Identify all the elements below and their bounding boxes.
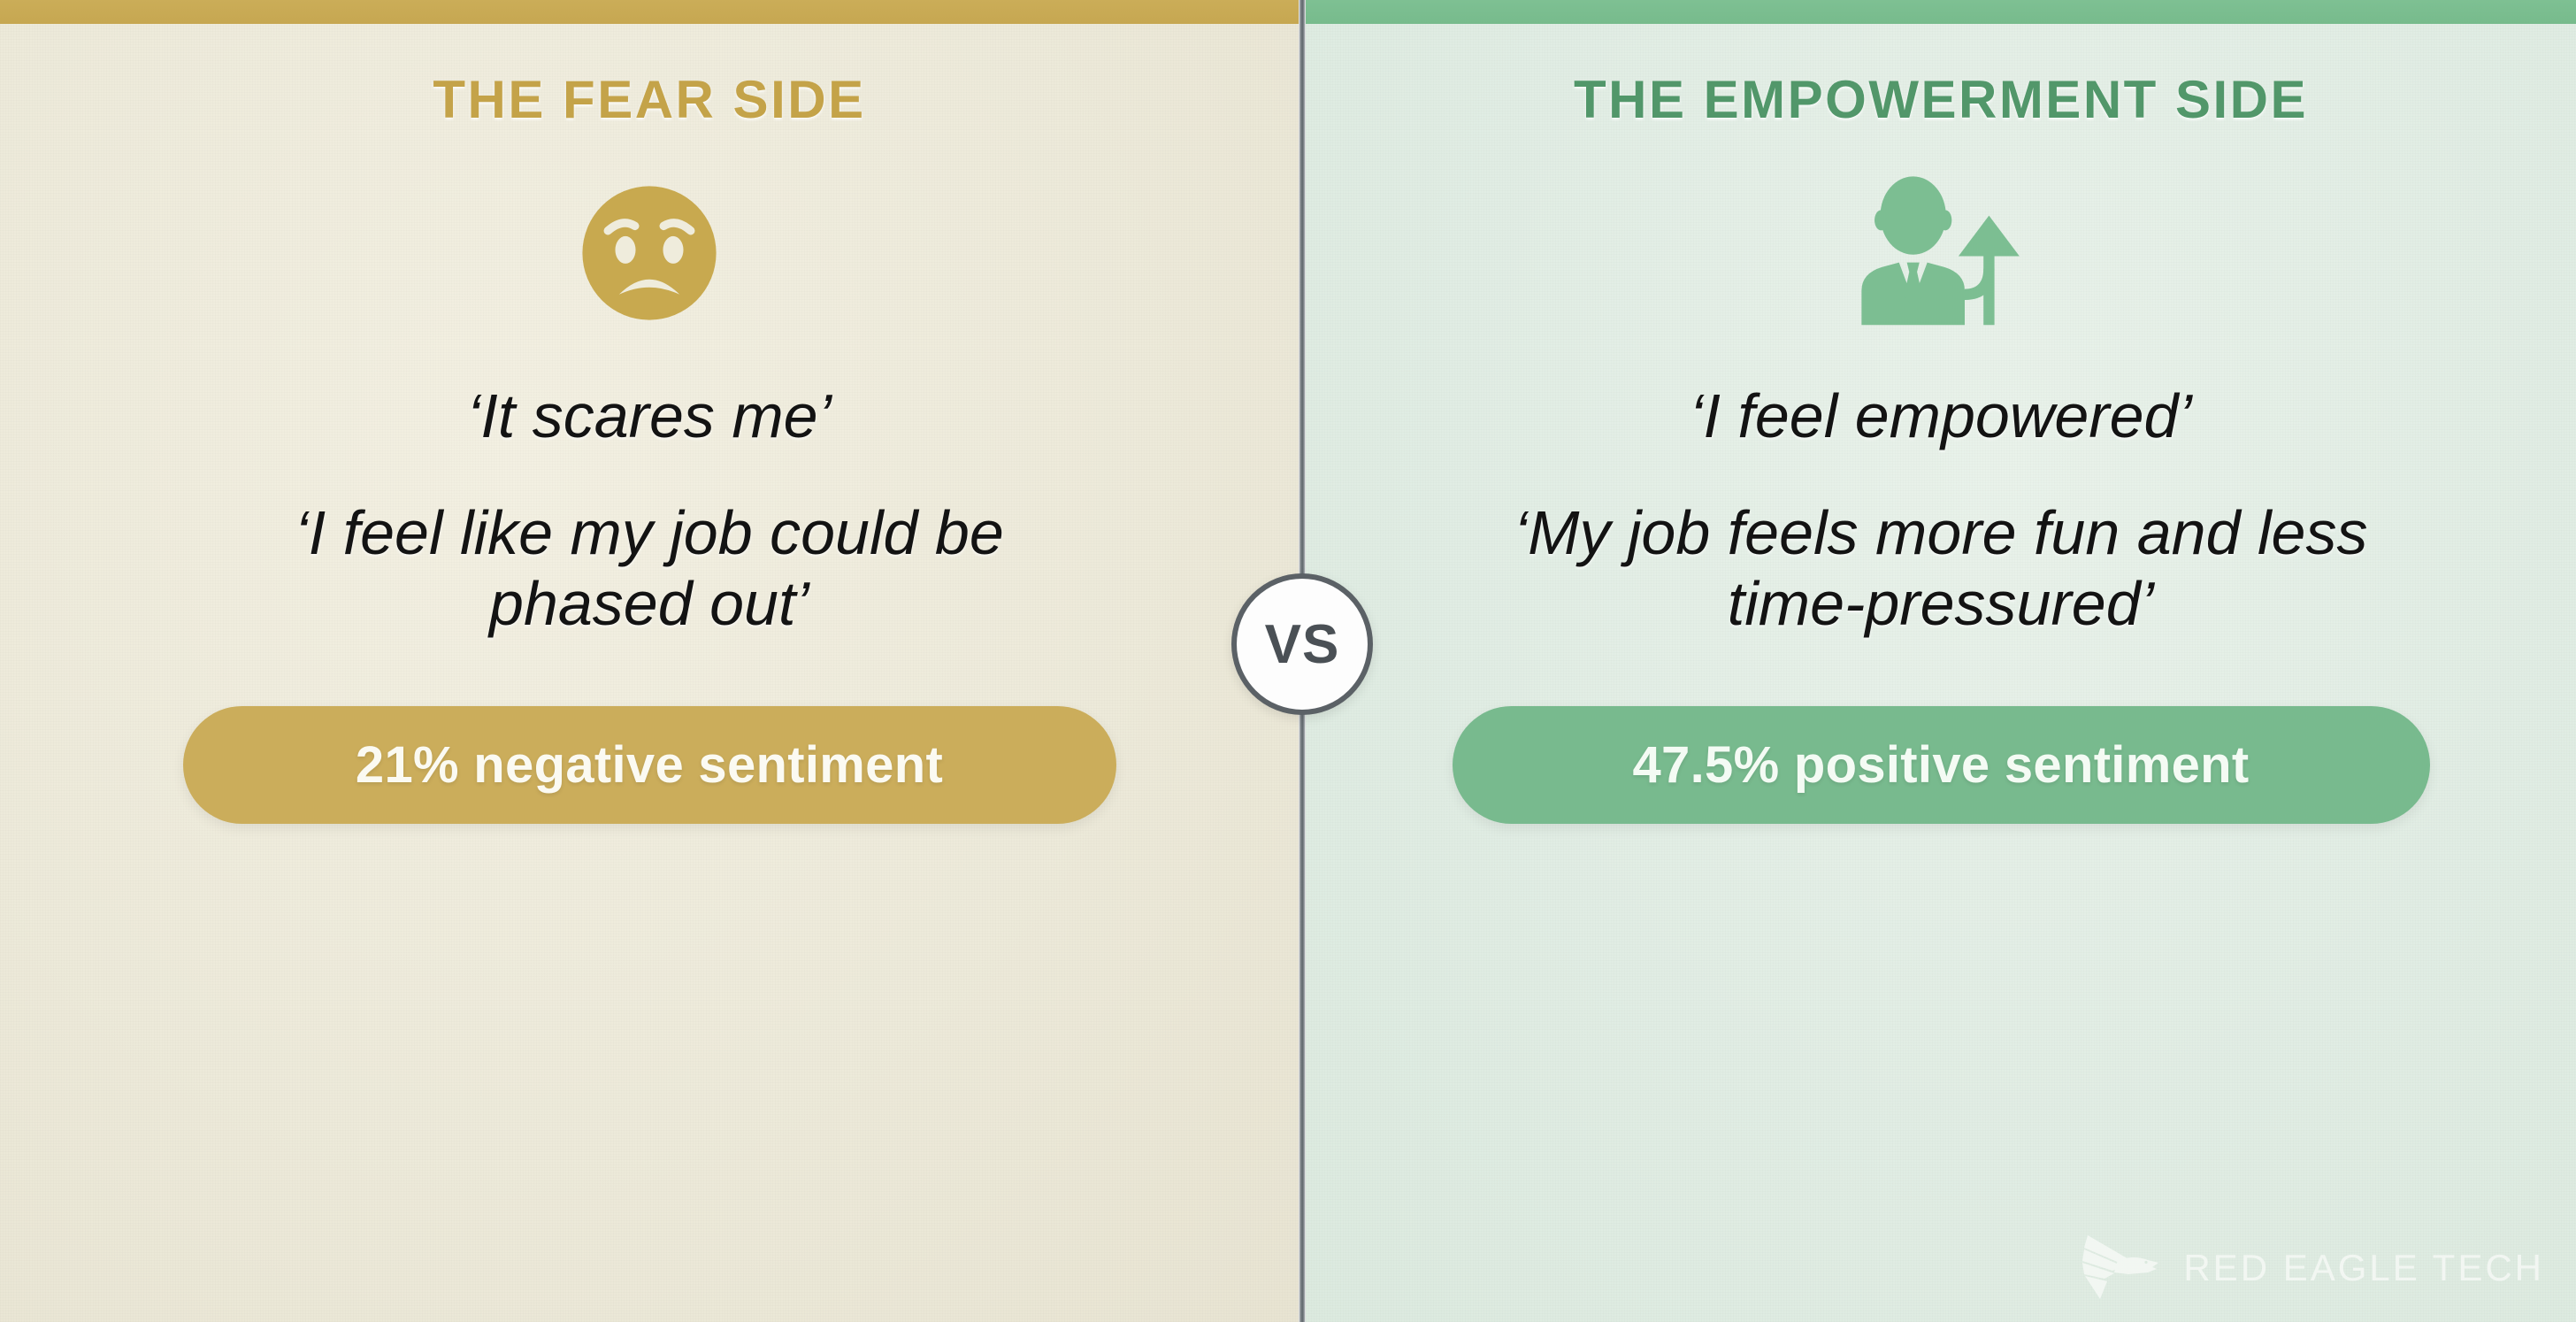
brand-name: RED EAGLE TECH bbox=[2183, 1247, 2544, 1289]
businessperson-growth-icon-slot bbox=[1851, 169, 2032, 337]
fear-side-heading: THE FEAR SIDE bbox=[433, 73, 865, 127]
fear-sentiment-badge: 21% negative sentiment bbox=[183, 706, 1116, 824]
empowerment-side-heading: THE EMPOWERMENT SIDE bbox=[1574, 73, 2308, 127]
fear-long-quote: ‘I feel like my job could be phased out’ bbox=[198, 498, 1100, 640]
fear-short-quote: ‘It scares me’ bbox=[467, 381, 832, 452]
worried-face-icon bbox=[570, 173, 729, 333]
worried-face-icon-slot bbox=[570, 169, 729, 337]
vs-badge: VS bbox=[1231, 573, 1373, 715]
infographic-canvas: THE FEAR SIDE ‘It scares me’ ‘I feel lik… bbox=[0, 0, 2576, 1322]
fear-side-column: THE FEAR SIDE ‘It scares me’ ‘I feel lik… bbox=[0, 24, 1299, 1322]
brand-watermark: RED EAGLE TECH bbox=[2082, 1234, 2544, 1303]
vs-label: VS bbox=[1265, 613, 1340, 676]
empowerment-side-column: THE EMPOWERMENT SIDE bbox=[1306, 24, 2576, 1322]
empowerment-sentiment-badge: 47.5% positive sentiment bbox=[1453, 706, 2430, 824]
eagle-icon bbox=[2082, 1234, 2178, 1303]
fear-accent-bar bbox=[0, 0, 1299, 24]
businessperson-growth-icon bbox=[1851, 173, 2032, 333]
empowerment-accent-bar bbox=[1306, 0, 2576, 24]
empowerment-short-quote: ‘I feel empowered’ bbox=[1690, 381, 2192, 452]
empowerment-long-quote: ‘My job feels more fun and less time-pre… bbox=[1490, 498, 2392, 640]
